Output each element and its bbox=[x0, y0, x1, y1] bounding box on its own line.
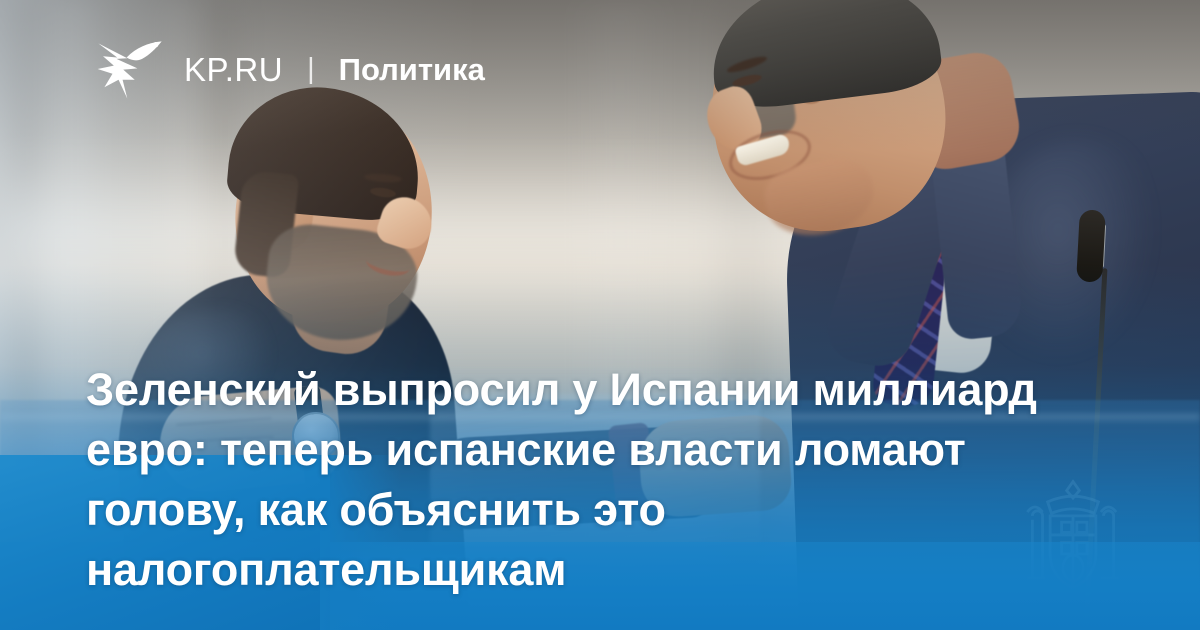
swallow-bird-icon bbox=[96, 38, 164, 100]
brand-bar[interactable]: KP.RU | Политика bbox=[96, 38, 485, 100]
article-headline: Зеленский выпросил у Испании миллиард ев… bbox=[86, 360, 1096, 600]
microphone-head-icon bbox=[1076, 209, 1106, 282]
brand-name: KP.RU bbox=[184, 53, 283, 86]
section-label: Политика bbox=[339, 54, 485, 85]
brand-separator: | bbox=[307, 55, 315, 84]
social-share-card: KP.RU | Политика Зеленский выпросил у Ис… bbox=[0, 0, 1200, 630]
